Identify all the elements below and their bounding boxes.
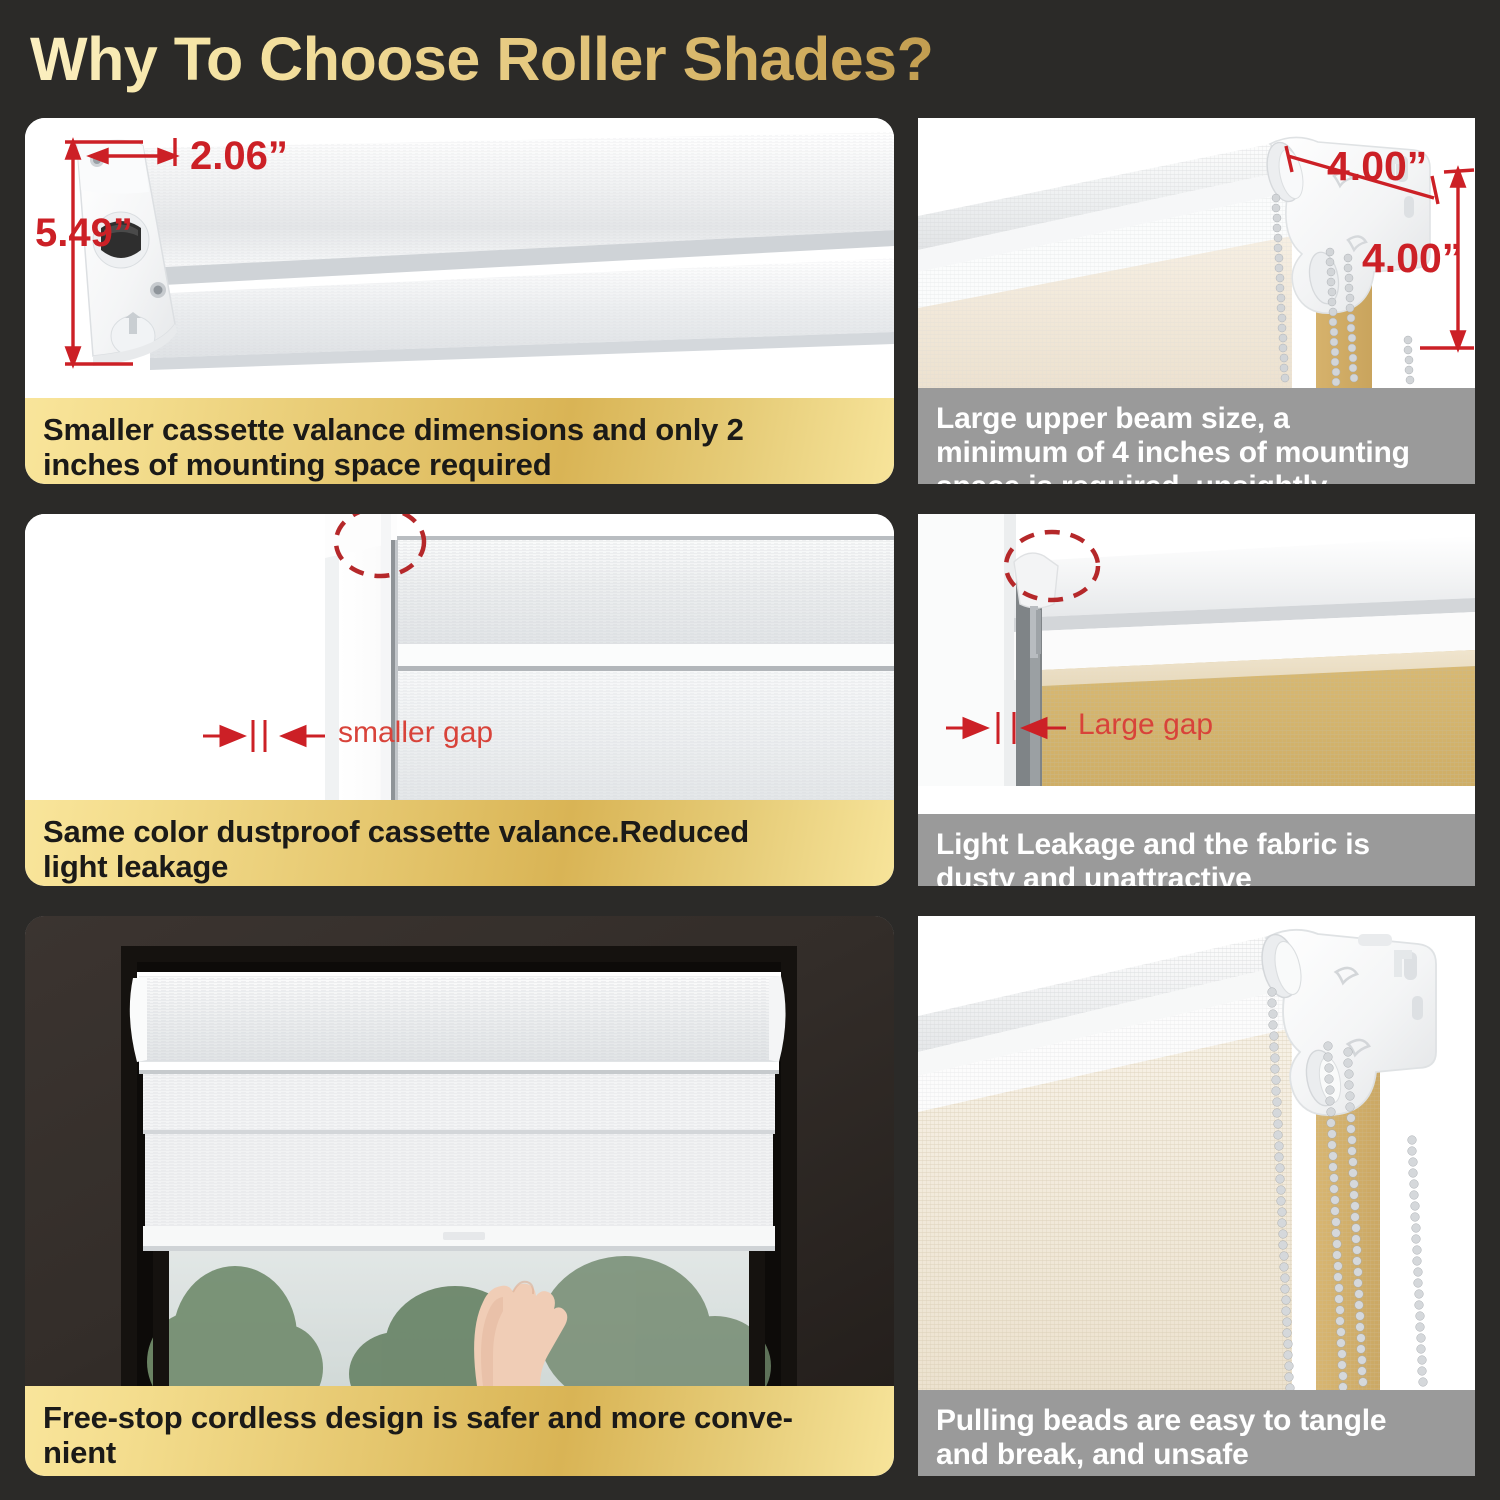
dimension-label-height: 5.49”	[35, 211, 133, 256]
panel-6-pulling-beads[interactable]: Pulling beads are easy to tangle and bre…	[918, 916, 1475, 1476]
panel-5-caption-text: Free-stop cordless design is safer and m…	[43, 1400, 793, 1471]
panel-2-caption: Large upper beam size, a minimum of 4 in…	[918, 388, 1475, 484]
panel-2-large-upper-beam[interactable]: 4.00” 4.00” Large upper beam size, a min…	[918, 118, 1475, 484]
pulling-beads-illustration	[918, 916, 1475, 1390]
panel-5-caption: Free-stop cordless design is safer and m…	[25, 1386, 894, 1476]
page-title-container: Why To Choose Roller Shades?	[30, 18, 1470, 100]
panel-1-caption: Smaller cassette valance dimensions and …	[25, 398, 894, 484]
smaller-gap-photo: smaller gap	[25, 514, 894, 800]
dimension-label-beam-height: 4.00”	[1362, 235, 1462, 282]
dimension-lines-overlay	[25, 118, 894, 398]
gap-arrows-overlay	[918, 514, 1475, 786]
panel-6-caption-text: Pulling beads are easy to tangle and bre…	[936, 1404, 1386, 1472]
cordless-window-photo	[25, 916, 894, 1386]
gap-arrows-overlay	[25, 514, 894, 800]
dimension-label-beam-width: 4.00”	[1327, 143, 1427, 190]
gap-label-smaller: smaller gap	[338, 716, 493, 750]
panel-1-caption-text: Smaller cassette valance dimensions and …	[43, 412, 744, 483]
dimension-label-width: 2.06”	[190, 134, 288, 179]
panel-4-large-gap[interactable]: Large gap Light Leakage and the fabric i…	[918, 514, 1475, 886]
panel-2-caption-text: Large upper beam size, a minimum of 4 in…	[936, 402, 1410, 484]
page-title: Why To Choose Roller Shades?	[30, 24, 933, 94]
panel-6-caption: Pulling beads are easy to tangle and bre…	[918, 1390, 1475, 1476]
room-window-illustration	[25, 916, 894, 1386]
pulling-beads-photo	[918, 916, 1475, 1390]
panel-3-caption-text: Same color dustproof cassette valance.Re…	[43, 814, 749, 885]
panel-4-caption-text: Light Leakage and the fabric is dusty an…	[936, 828, 1370, 886]
panel-3-smaller-gap[interactable]: smaller gap Same color dustproof cassett…	[25, 514, 894, 886]
panel-5-cordless-design[interactable]: Free-stop cordless design is safer and m…	[25, 916, 894, 1476]
large-beam-photo: 4.00” 4.00”	[918, 118, 1475, 388]
cassette-valance-photo: 2.06” 5.49”	[25, 118, 894, 398]
large-gap-photo: Large gap	[918, 514, 1475, 786]
comparison-grid: 2.06” 5.49” Smaller cassette valance dim…	[25, 118, 1475, 1476]
panel-3-caption: Same color dustproof cassette valance.Re…	[25, 800, 894, 886]
gap-label-large: Large gap	[1078, 708, 1213, 742]
panel-4-caption: Light Leakage and the fabric is dusty an…	[918, 814, 1475, 886]
panel-1-cassette-dimensions[interactable]: 2.06” 5.49” Smaller cassette valance dim…	[25, 118, 894, 484]
